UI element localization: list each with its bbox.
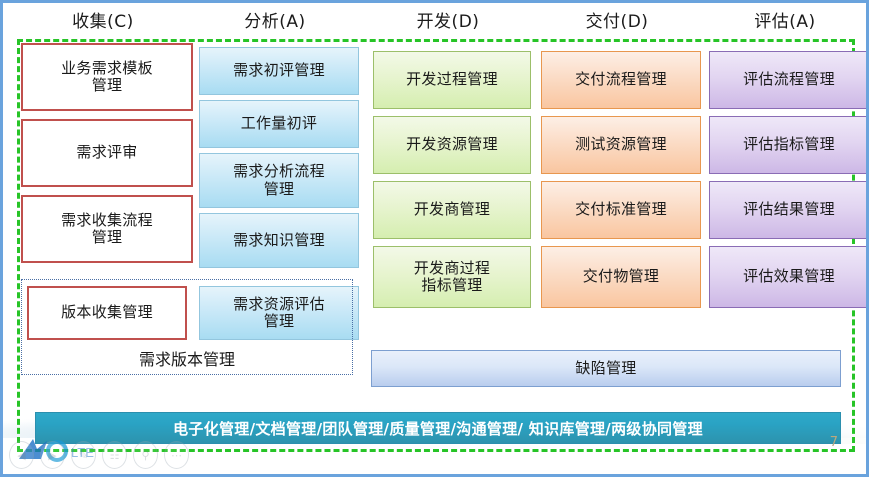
node-evaluate-2[interactable]: 评估结果管理 [709,181,869,239]
node-develop-3[interactable]: 开发商过程 指标管理 [373,246,531,308]
node-deliver-3[interactable]: 交付物管理 [541,246,701,308]
node-develop-0[interactable]: 开发过程管理 [373,51,531,109]
node-evaluate-3[interactable]: 评估效果管理 [709,246,869,308]
slide-canvas: 收集(C) 分析(A) 开发(D) 交付(D) 评估(A) 业务需求模板 管理 … [0,0,869,477]
node-defect-management[interactable]: 缺陷管理 [371,350,841,387]
node-collect-0[interactable]: 业务需求模板 管理 [21,43,193,111]
next-slide-icon[interactable]: ▶ [40,441,65,469]
node-analyze-0[interactable]: 需求初评管理 [199,47,359,95]
pen-icon[interactable]: ✎ [71,441,96,469]
phase-header-row: 收集(C) 分析(A) 开发(D) 交付(D) 评估(A) [17,7,855,39]
phase-label-develop: 开发(D) [369,7,527,39]
node-collect-1[interactable]: 需求评审 [21,119,193,187]
phase-label-analyze: 分析(A) [195,7,355,39]
phase-label-deliver: 交付(D) [537,7,697,39]
node-develop-1[interactable]: 开发资源管理 [373,116,531,174]
phase-label-collect: 收集(C) [17,7,189,39]
presentation-viewer-controls: ◀ ▶ ✎ ☷ ⚲ ⋯ [9,439,189,471]
phase-label-evaluate: 评估(A) [705,7,865,39]
previous-slide-icon[interactable]: ◀ [9,441,34,469]
more-options-icon[interactable]: ⋯ [164,441,189,469]
node-deliver-2[interactable]: 交付标准管理 [541,181,701,239]
node-deliver-1[interactable]: 测试资源管理 [541,116,701,174]
node-deliver-0[interactable]: 交付流程管理 [541,51,701,109]
version-management-group: 需求版本管理 [21,279,353,375]
version-management-group-label: 需求版本管理 [22,346,352,370]
node-analyze-1[interactable]: 工作量初评 [199,100,359,148]
foundation-banner-label: 电子化管理/文档管理/团队管理/质量管理/沟通管理/ 知识库管理/两级协同管理 [173,418,703,439]
node-evaluate-1[interactable]: 评估指标管理 [709,116,869,174]
zoom-icon[interactable]: ⚲ [133,441,158,469]
slide-grid-icon[interactable]: ☷ [102,441,127,469]
node-analyze-2[interactable]: 需求分析流程 管理 [199,153,359,208]
page-number: 7 [830,435,838,450]
node-collect-2[interactable]: 需求收集流程 管理 [21,195,193,263]
node-analyze-3[interactable]: 需求知识管理 [199,213,359,268]
node-develop-2[interactable]: 开发商管理 [373,181,531,239]
node-evaluate-0[interactable]: 评估流程管理 [709,51,869,109]
